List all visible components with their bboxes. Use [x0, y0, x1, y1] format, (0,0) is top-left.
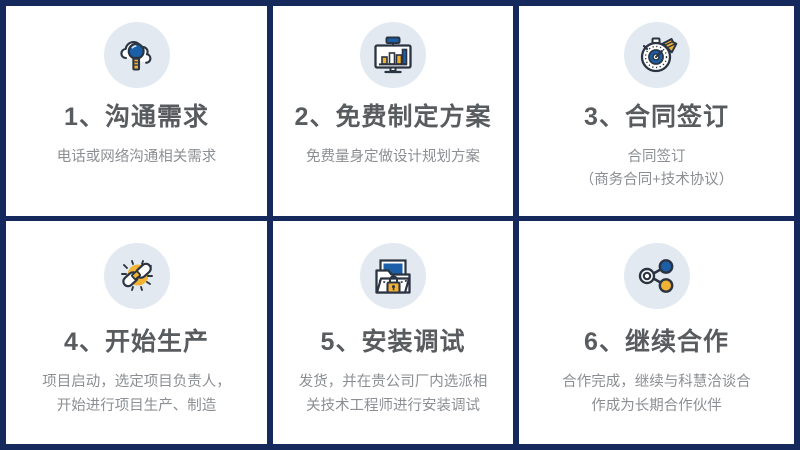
step-description: 合作完成，继续与科慧洽谈合 作成为长期合作伙伴	[552, 370, 761, 419]
step-description: 发货，并在贵公司厂内选派相 关技术工程师进行安装调试	[289, 370, 498, 419]
cloud-search-icon	[104, 22, 170, 88]
step-title: 4、开始生产	[64, 329, 209, 357]
step-title: 6、继续合作	[584, 329, 729, 357]
step-description: 合同签订 （商务合同+技术协议）	[570, 146, 743, 193]
step-card-5[interactable]: 5、安装调试 发货，并在贵公司厂内选派相 关技术工程师进行安装调试	[273, 221, 513, 444]
step-title: 3、合同签订	[584, 104, 729, 132]
step-card-2[interactable]: 2、免费制定方案 免费量身定做设计规划方案	[273, 6, 513, 216]
step-card-6[interactable]: 6、继续合作 合作完成，继续与科慧洽谈合 作成为长期合作伙伴	[519, 221, 794, 444]
stopwatch-target-icon	[624, 22, 690, 88]
share-nodes-icon	[624, 243, 690, 309]
step-description: 项目启动，选定项目负责人， 开始进行项目生产、制造	[32, 370, 241, 419]
step-description: 免费量身定做设计规划方案	[296, 146, 490, 169]
step-card-3[interactable]: 3、合同签订 合同签订 （商务合同+技术协议）	[519, 6, 794, 216]
step-title: 2、免费制定方案	[295, 104, 492, 132]
step-title: 5、安装调试	[321, 329, 466, 357]
chain-link-icon	[104, 243, 170, 309]
process-steps-grid: 1、沟通需求 电话或网络沟通相关需求 2、免费制定方案 免费量身定做设计	[0, 0, 800, 450]
step-description: 电话或网络沟通相关需求	[47, 146, 227, 169]
step-title: 1、沟通需求	[64, 104, 209, 132]
step-card-1[interactable]: 1、沟通需求 电话或网络沟通相关需求	[6, 6, 267, 216]
monitor-bar-chart-icon	[360, 22, 426, 88]
step-card-4[interactable]: 4、开始生产 项目启动，选定项目负责人， 开始进行项目生产、制造	[6, 221, 267, 444]
folder-lock-icon	[360, 243, 426, 309]
